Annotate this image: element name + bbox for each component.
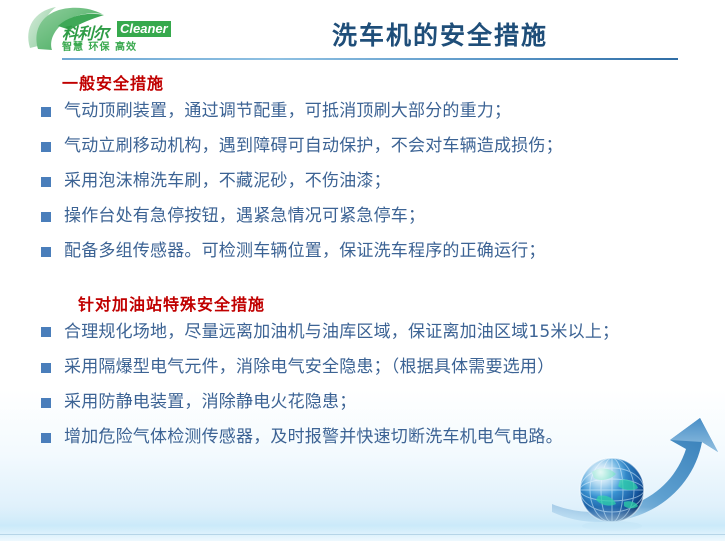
list-item-text: 合理规化场地，尽量远离加油机与油库区域，保证离加油区域15米以上； [64, 322, 619, 342]
list-item-text: 气动立刷移动机构，遇到障碍可自动保护，不会对车辆造成损伤； [64, 136, 563, 156]
square-bullet-icon [41, 247, 51, 257]
list-item: 配备多组传感器。可检测车辆位置，保证洗车程序的正确运行； [38, 234, 725, 269]
list-item-text: 采用泡沫棉洗车刷，不藏泥砂，不伤油漆； [64, 171, 391, 191]
page-title: 洗车机的安全措施 [230, 16, 650, 52]
list-item: 操作台处有急停按钮，遇紧急情况可紧急停车； [38, 199, 725, 234]
square-bullet-icon [41, 107, 51, 117]
square-bullet-icon [41, 433, 51, 443]
list-item-text: 采用隔爆型电气元件，消除电气安全隐患；（根据具体需要选用） [64, 357, 554, 377]
list-item: 采用隔爆型电气元件，消除电气安全隐患；（根据具体需要选用） [38, 350, 725, 385]
list-item: 采用泡沫棉洗车刷，不藏泥砂，不伤油漆； [38, 164, 725, 199]
title-divider [62, 58, 678, 60]
bottom-gradient-band [0, 507, 725, 541]
square-bullet-icon [41, 398, 51, 408]
square-bullet-icon [41, 212, 51, 222]
bottom-hairline [0, 534, 725, 535]
section-heading-gas-station: 针对加油站特殊安全措施 [78, 291, 725, 315]
list-item: 合理规化场地，尽量远离加油机与油库区域，保证离加油区域15米以上； [38, 315, 664, 350]
list-item: 气动立刷移动机构，遇到障碍可自动保护，不会对车辆造成损伤； [38, 129, 725, 164]
logo-slogan: 智慧 环保 高效 [62, 38, 137, 53]
bullet-list-gas-station: 合理规化场地，尽量远离加油机与油库区域，保证离加油区域15米以上； 采用隔爆型电… [0, 315, 725, 455]
square-bullet-icon [41, 142, 51, 152]
slide-canvas: 科利尔 Cleaner 智慧 环保 高效 洗车机的安全措施 一般安全措施 气动顶… [0, 0, 725, 541]
square-bullet-icon [41, 177, 51, 187]
logo-english-name: Cleaner [117, 21, 171, 37]
slide-header: 科利尔 Cleaner 智慧 环保 高效 洗车机的安全措施 [0, 0, 725, 60]
list-item-text: 气动顶刷装置，通过调节配重，可抵消顶刷大部分的重力； [64, 101, 511, 121]
list-item: 增加危险气体检测传感器，及时报警并快速切断洗车机电气电路。 [38, 420, 725, 455]
slide-body: 一般安全措施 气动顶刷装置，通过调节配重，可抵消顶刷大部分的重力； 气动立刷移动… [0, 62, 725, 455]
list-item-text: 配备多组传感器。可检测车辆位置，保证洗车程序的正确运行； [64, 241, 546, 261]
section-heading-general: 一般安全措施 [62, 70, 725, 94]
list-item-text: 采用防静电装置，消除静电火花隐患； [64, 392, 356, 412]
square-bullet-icon [41, 363, 51, 373]
square-bullet-icon [41, 327, 51, 337]
list-item: 气动顶刷装置，通过调节配重，可抵消顶刷大部分的重力； [38, 94, 725, 129]
list-item-text: 操作台处有急停按钮，遇紧急情况可紧急停车； [64, 206, 425, 226]
bullet-list-general: 气动顶刷装置，通过调节配重，可抵消顶刷大部分的重力； 气动立刷移动机构，遇到障碍… [0, 94, 725, 269]
list-item: 采用防静电装置，消除静电火花隐患； [38, 385, 725, 420]
list-item-text: 增加危险气体检测传感器，及时报警并快速切断洗车机电气电路。 [64, 427, 563, 447]
